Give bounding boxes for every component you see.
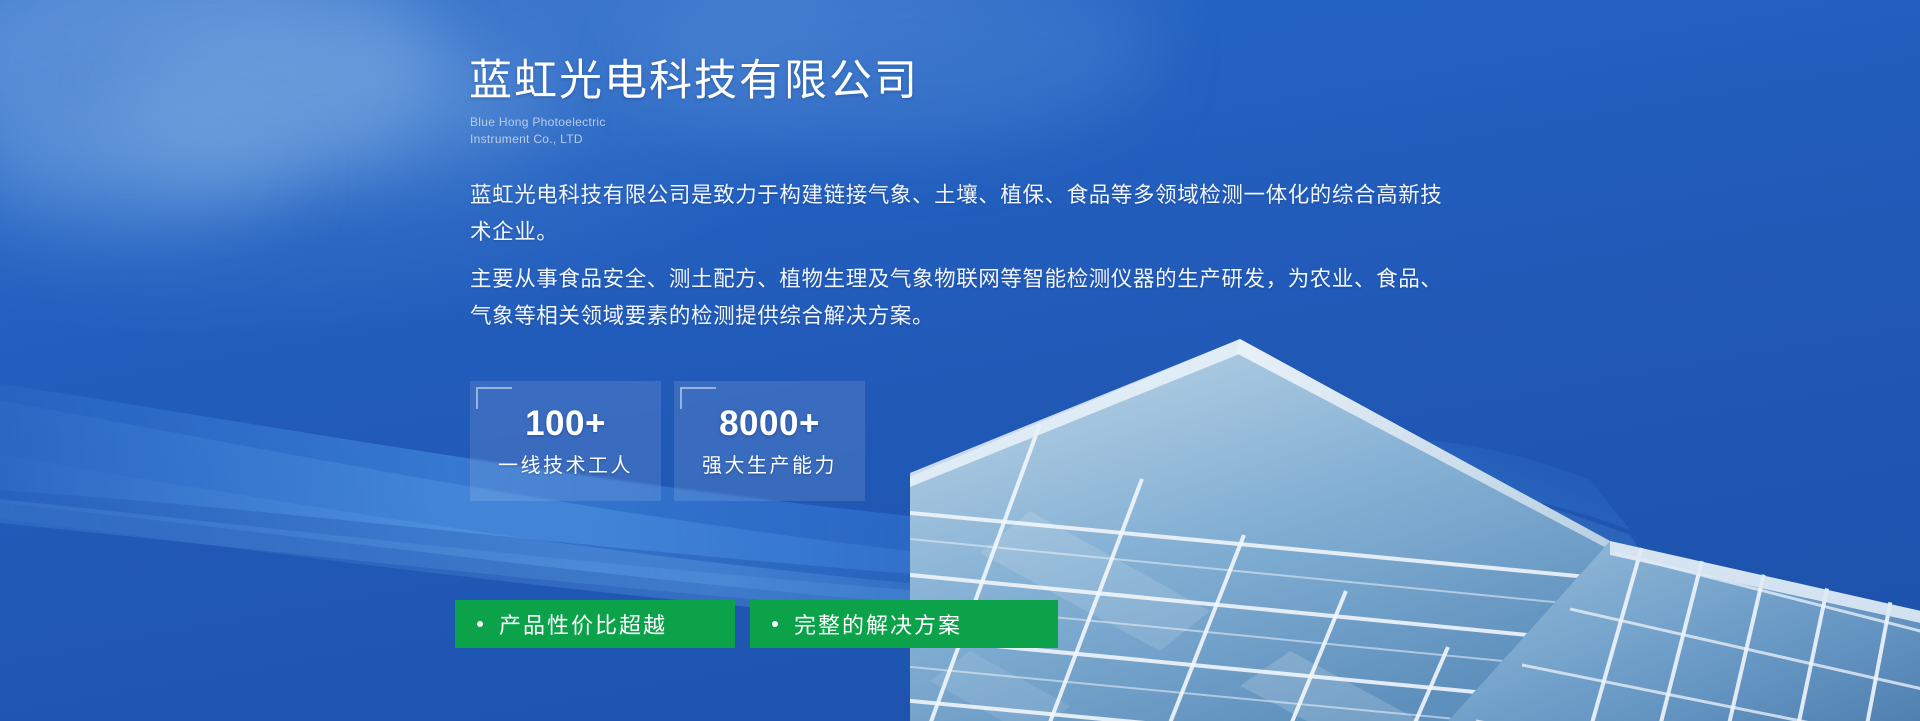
- bullet-dot-icon: [477, 621, 483, 627]
- feature-tag-solution[interactable]: 完整的解决方案: [750, 600, 1058, 648]
- stat-label: 一线技术工人: [498, 456, 633, 476]
- intro-paragraph-1: 蓝虹光电科技有限公司是致力于构建链接气象、土壤、植保、食品等多领域检测一体化的综…: [470, 177, 1455, 251]
- feature-tag-value[interactable]: 产品性价比超越: [455, 600, 735, 648]
- feature-tag-label: 完整的解决方案: [794, 608, 962, 640]
- stat-label: 强大生产能力: [702, 456, 837, 476]
- company-name-cn: 蓝虹光电科技有限公司: [469, 46, 919, 108]
- company-name-en-line1: Blue Hong Photoelectric: [470, 114, 606, 131]
- intro-paragraph-2: 主要从事食品安全、测土配方、植物生理及气象物联网等智能检测仪器的生产研发，为农业…: [470, 261, 1455, 335]
- stat-number: 8000+: [719, 406, 820, 441]
- stat-card-workers: 100+ 一线技术工人: [470, 381, 661, 501]
- feature-tags-group: 产品性价比超越 完整的解决方案: [455, 600, 1058, 648]
- stats-group: 100+ 一线技术工人 8000+ 强大生产能力: [470, 381, 865, 501]
- banner-content: 蓝虹光电科技有限公司 Blue Hong Photoelectric Instr…: [0, 0, 1920, 721]
- company-name-en-line2: Instrument Co., LTD: [470, 131, 606, 148]
- feature-tag-label: 产品性价比超越: [499, 608, 667, 640]
- stat-card-capacity: 8000+ 强大生产能力: [674, 381, 865, 501]
- hero-banner: 蓝虹光电科技有限公司 Blue Hong Photoelectric Instr…: [0, 0, 1920, 721]
- company-name-en: Blue Hong Photoelectric Instrument Co., …: [470, 114, 606, 148]
- stat-number: 100+: [525, 406, 606, 441]
- bullet-dot-icon: [772, 621, 778, 627]
